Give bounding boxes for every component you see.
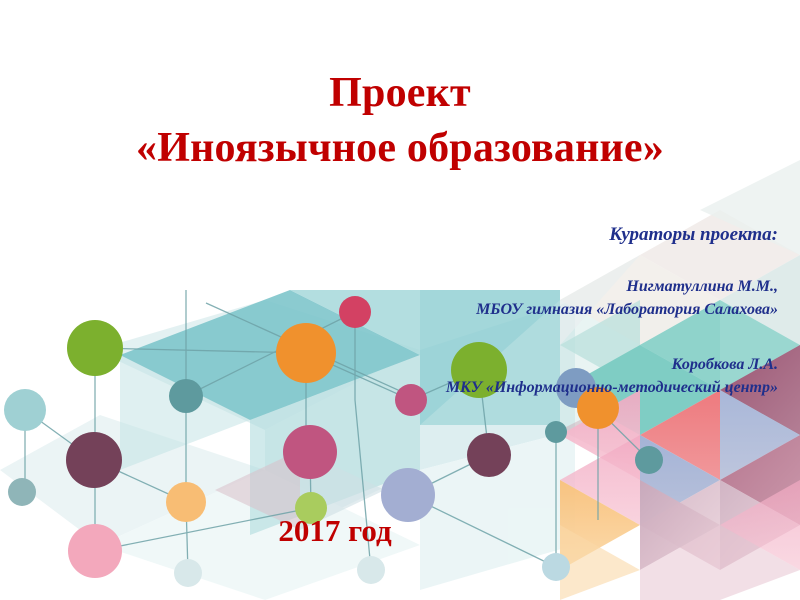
curator-2-name: Коробкова Л.А. — [138, 353, 778, 376]
slide-year: 2017 год — [0, 513, 735, 549]
slide-text-layer: Проект «Иноязычное образование» Кураторы… — [0, 0, 800, 600]
curators-heading: Кураторы проекта: — [138, 224, 778, 247]
curator-1-name: Нигматуллина М.М., — [138, 275, 778, 298]
title-line-2: «Иноязычное образование» — [0, 121, 800, 176]
slide-title: Проект «Иноязычное образование» — [0, 66, 800, 177]
curator-entry-1: Нигматуллина М.М., МБОУ гимназия «Лабора… — [138, 275, 778, 321]
title-line-1: Проект — [0, 66, 800, 121]
curator-2-organization: МКУ «Информационно-методический центр» — [138, 376, 778, 399]
curator-entry-2: Коробкова Л.А. МКУ «Информационно-методи… — [138, 353, 778, 399]
curators-block: Кураторы проекта: Нигматуллина М.М., МБО… — [138, 224, 778, 400]
curator-1-organization: МБОУ гимназия «Лаборатория Салахова» — [138, 298, 778, 321]
presentation-slide: Проект «Иноязычное образование» Кураторы… — [0, 0, 800, 600]
